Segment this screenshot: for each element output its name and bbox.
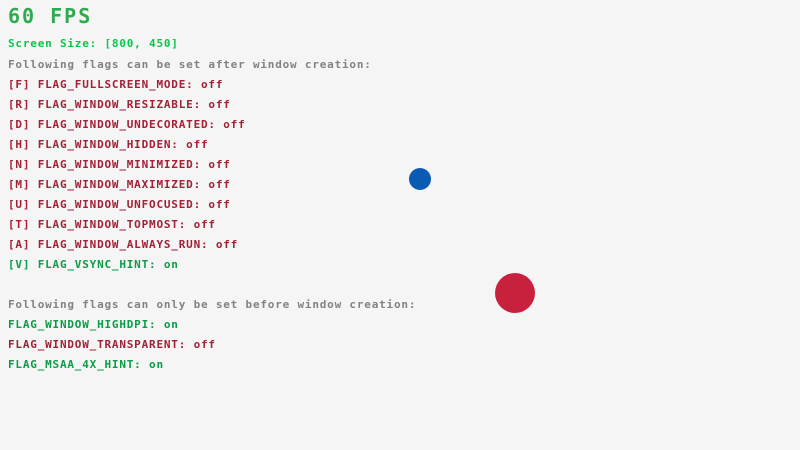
flag-line-flag-window-topmost[interactable]: [T] FLAG_WINDOW_TOPMOST: off [8, 219, 216, 230]
screen-size-label: Screen Size: [800, 450] [8, 38, 179, 49]
flag-line-flag-window-resizable[interactable]: [R] FLAG_WINDOW_RESIZABLE: off [8, 99, 231, 110]
flag-line-flag-msaa-4x-hint[interactable]: FLAG_MSAA_4X_HINT: on [8, 359, 164, 370]
flag-line-flag-window-transparent[interactable]: FLAG_WINDOW_TRANSPARENT: off [8, 339, 216, 350]
flag-line-flag-window-maximized[interactable]: [M] FLAG_WINDOW_MAXIMIZED: off [8, 179, 231, 190]
flag-line-flag-window-minimized[interactable]: [N] FLAG_WINDOW_MINIMIZED: off [8, 159, 231, 170]
red-circle-shape [495, 273, 535, 313]
flag-line-flag-fullscreen-mode[interactable]: [F] FLAG_FULLSCREEN_MODE: off [8, 79, 223, 90]
flag-line-flag-window-undecorated[interactable]: [D] FLAG_WINDOW_UNDECORATED: off [8, 119, 246, 130]
blue-circle-shape [409, 168, 431, 190]
fps-counter: 60 FPS [8, 6, 92, 26]
hud-overlay: 60 FPS Screen Size: [800, 450] Following… [0, 0, 800, 450]
flag-line-flag-vsync-hint[interactable]: [V] FLAG_VSYNC_HINT: on [8, 259, 179, 270]
flag-line-flag-window-hidden[interactable]: [H] FLAG_WINDOW_HIDDEN: off [8, 139, 208, 150]
flag-line-flag-window-always-run[interactable]: [A] FLAG_WINDOW_ALWAYS_RUN: off [8, 239, 238, 250]
raylib-window-canvas[interactable]: 60 FPS Screen Size: [800, 450] Following… [0, 0, 800, 450]
section-title-after-creation: Following flags can be set after window … [8, 59, 372, 70]
section-title-before-creation: Following flags can only be set before w… [8, 299, 416, 310]
flag-line-flag-window-unfocused[interactable]: [U] FLAG_WINDOW_UNFOCUSED: off [8, 199, 231, 210]
flag-line-flag-window-highdpi[interactable]: FLAG_WINDOW_HIGHDPI: on [8, 319, 179, 330]
